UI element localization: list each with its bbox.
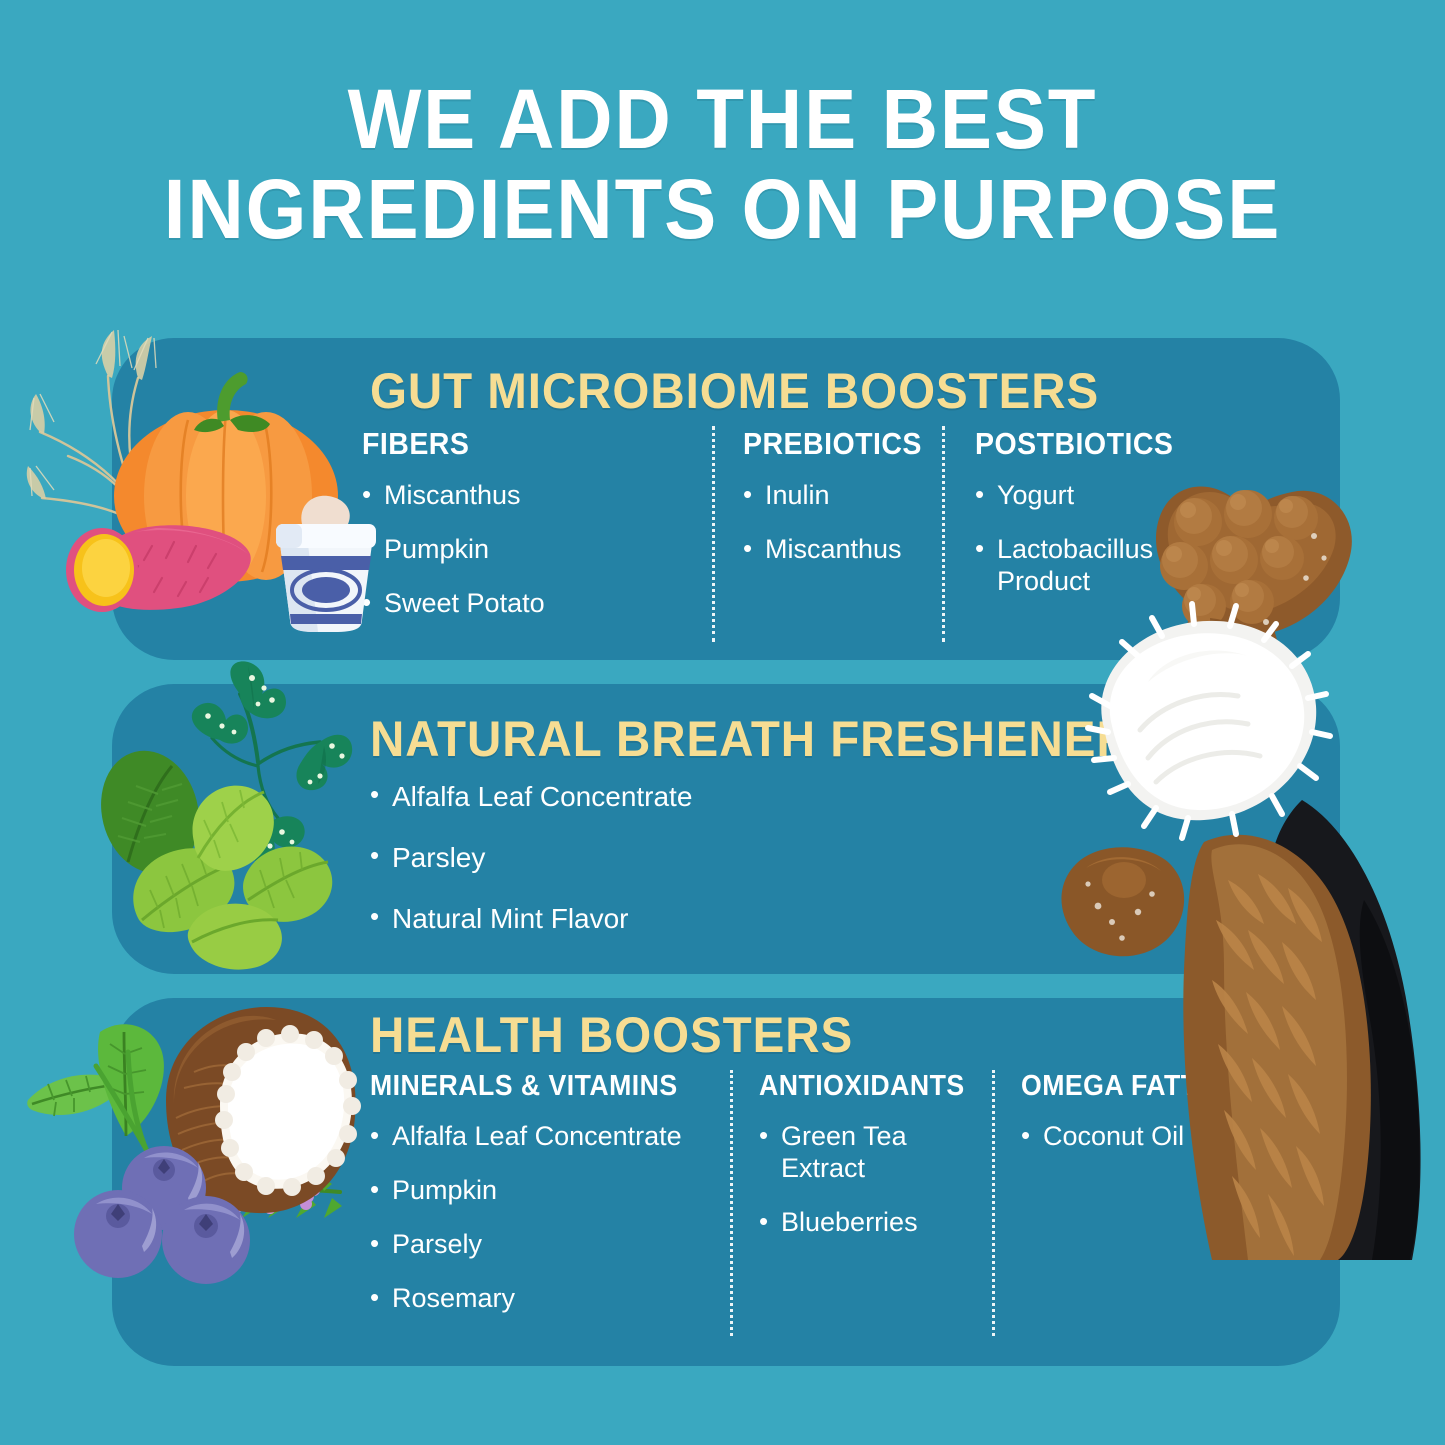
list-item: Pumpkin xyxy=(370,1175,714,1207)
list-item: Lactobacillus Product xyxy=(975,534,1242,598)
list-item: Rosemary xyxy=(370,1283,714,1315)
list-item: Yogurt xyxy=(975,480,1242,512)
card-gut-microbiome-boosters: GUT MICROBIOME BOOSTERS FIBERS Miscanthu… xyxy=(112,338,1340,660)
list-item: Parsley xyxy=(370,841,1130,874)
column-antioxidants: ANTIOXIDANTS Green Tea Extract Blueberri… xyxy=(730,1070,992,1336)
gut-columns: FIBERS Miscanthus Pumpkin Sweet Potato P… xyxy=(362,426,1322,642)
list-antioxidants: Green Tea Extract Blueberries xyxy=(759,1121,982,1239)
health-columns: MINERALS & VITAMINS Alfalfa Leaf Concent… xyxy=(370,1070,1330,1336)
column-head-minerals-vitamins: MINERALS & VITAMINS xyxy=(370,1070,686,1103)
list-fibers: Miscanthus Pumpkin Sweet Potato xyxy=(362,480,694,620)
card-health-boosters: HEALTH BOOSTERS MINERALS & VITAMINS Alfa… xyxy=(112,998,1340,1366)
column-omega-fatty-acids: OMEGA FATTY ACIDS Coconut Oil xyxy=(992,1070,1322,1336)
list-item: Miscanthus xyxy=(362,480,694,512)
card-gut-title: GUT MICROBIOME BOOSTERS xyxy=(370,362,1099,420)
list-prebiotics: Inulin Miscanthus xyxy=(743,480,930,566)
column-head-omega-fatty-acids: OMEGA FATTY ACIDS xyxy=(1021,1070,1298,1103)
column-head-postbiotics: POSTBIOTICS xyxy=(975,426,1221,462)
column-head-fibers: FIBERS xyxy=(362,426,667,462)
card-health-title: HEALTH BOOSTERS xyxy=(370,1006,853,1064)
title-line-1: WE ADD THE BEST xyxy=(51,78,1395,160)
list-item: Parsely xyxy=(370,1229,714,1261)
column-minerals-vitamins: MINERALS & VITAMINS Alfalfa Leaf Concent… xyxy=(370,1070,730,1336)
list-item: Natural Mint Flavor xyxy=(370,902,1130,935)
list-item: Green Tea Extract xyxy=(759,1121,982,1185)
card-breath-title: NATURAL BREATH FRESHENERS xyxy=(370,710,1164,768)
list-item: Blueberries xyxy=(759,1207,982,1239)
list-breath-fresheners: Alfalfa Leaf Concentrate Parsley Natural… xyxy=(370,780,1130,963)
page-title: WE ADD THE BEST INGREDIENTS ON PURPOSE xyxy=(0,78,1445,251)
list-item: Inulin xyxy=(743,480,930,512)
list-item: Alfalfa Leaf Concentrate xyxy=(370,1121,714,1153)
card-natural-breath-fresheners: NATURAL BREATH FRESHENERS Alfalfa Leaf C… xyxy=(112,684,1340,974)
list-item: Sweet Potato xyxy=(362,588,694,620)
list-item: Pumpkin xyxy=(362,534,694,566)
column-prebiotics: PREBIOTICS Inulin Miscanthus xyxy=(712,426,942,642)
list-minerals-vitamins: Alfalfa Leaf Concentrate Pumpkin Parsely… xyxy=(370,1121,714,1314)
column-fibers: FIBERS Miscanthus Pumpkin Sweet Potato xyxy=(362,426,712,642)
title-line-2: INGREDIENTS ON PURPOSE xyxy=(51,168,1395,250)
list-item: Miscanthus xyxy=(743,534,930,566)
list-postbiotics: Yogurt Lactobacillus Product xyxy=(975,480,1242,598)
list-omega-fatty-acids: Coconut Oil xyxy=(1021,1121,1322,1153)
column-head-prebiotics: PREBIOTICS xyxy=(743,426,915,462)
column-postbiotics: POSTBIOTICS Yogurt Lactobacillus Product xyxy=(942,426,1242,642)
infographic-poster: WE ADD THE BEST INGREDIENTS ON PURPOSE G… xyxy=(0,0,1445,1445)
list-item: Coconut Oil xyxy=(1021,1121,1322,1153)
list-item: Alfalfa Leaf Concentrate xyxy=(370,780,1130,813)
column-head-antioxidants: ANTIOXIDANTS xyxy=(759,1070,964,1103)
